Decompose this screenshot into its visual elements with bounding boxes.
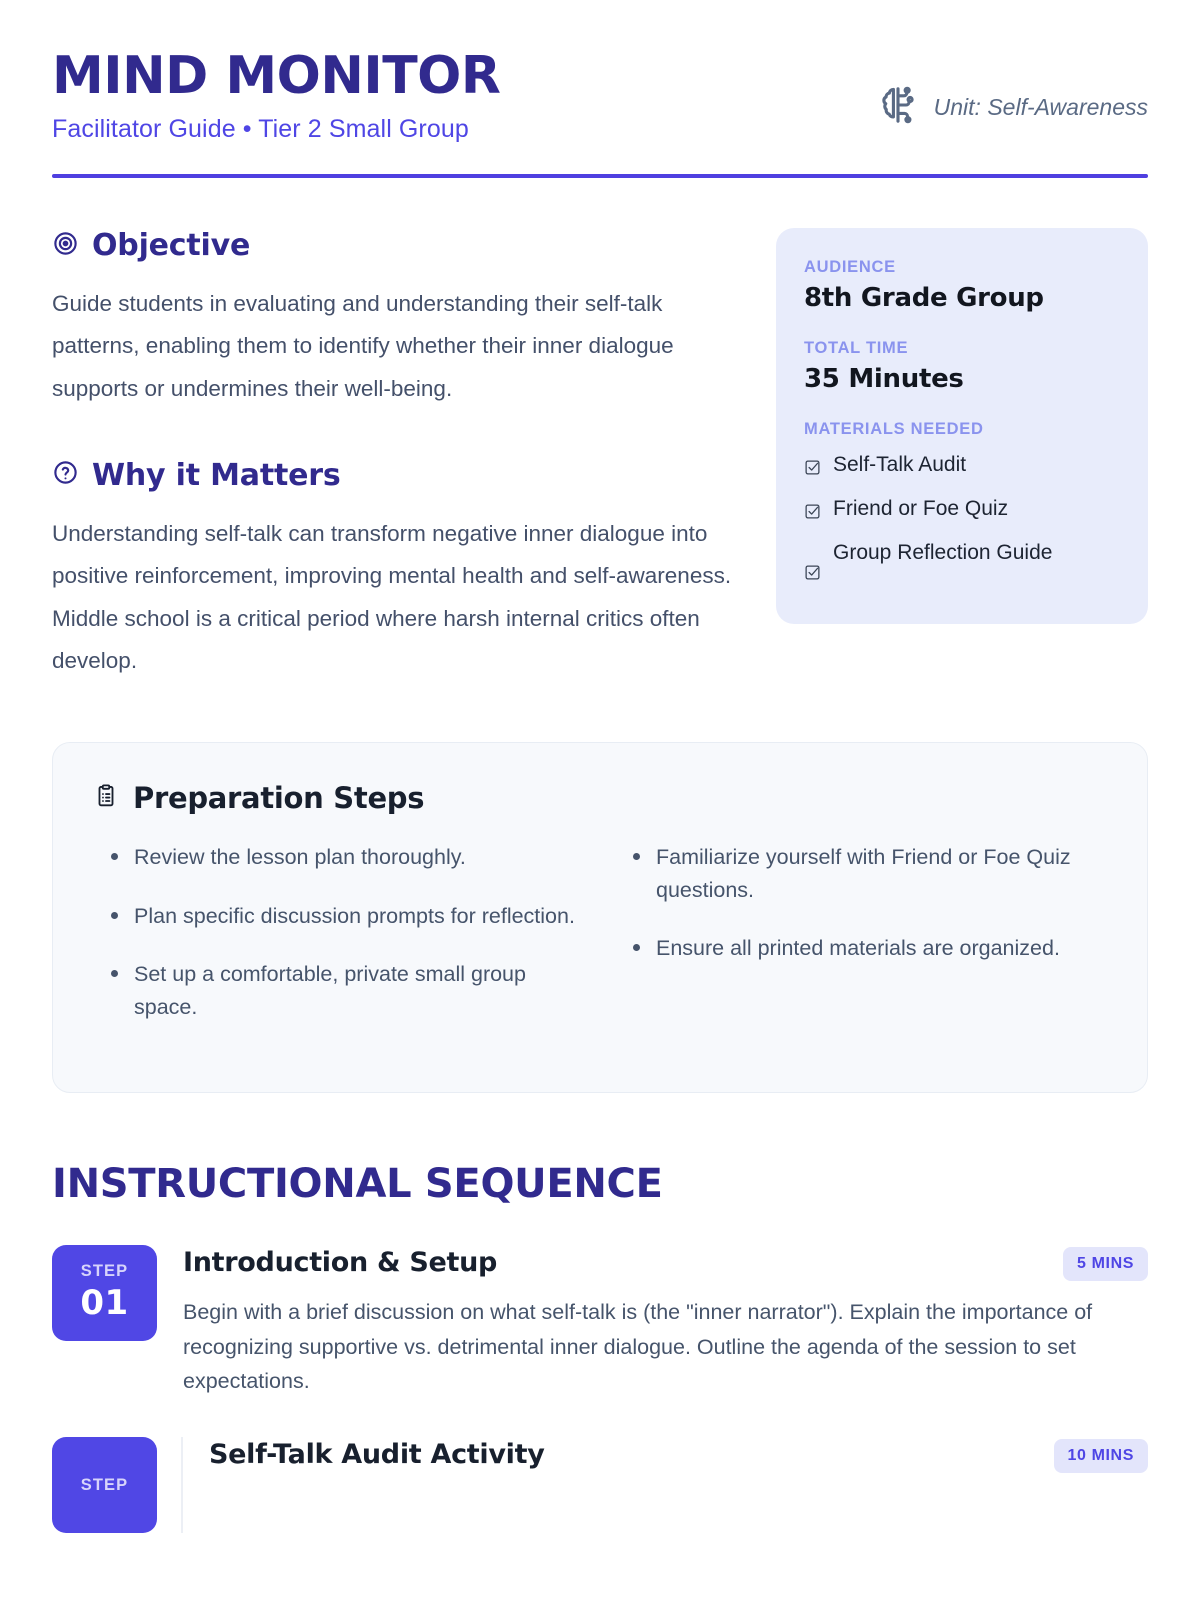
list-item[interactable]: Self-Talk Audit	[804, 449, 1120, 485]
list-item: Set up a comfortable, private small grou…	[93, 958, 585, 1023]
bullet-icon	[111, 912, 118, 919]
materials-list: Self-Talk Audit Friend or Foe Quiz	[804, 449, 1120, 590]
list-item: Familiarize yourself with Friend or Foe …	[615, 841, 1107, 906]
main-columns: Objective Guide students in evaluating a…	[52, 228, 1148, 682]
prep-text: Review the lesson plan thoroughly.	[134, 841, 466, 874]
total-time-value: 35 Minutes	[804, 364, 1120, 394]
materials-block: MATERIALS NEEDED Self-Talk Audit	[804, 420, 1120, 590]
preparation-left-column: Review the lesson plan thoroughly. Plan …	[93, 841, 585, 1050]
preparation-right-column: Familiarize yourself with Friend or Foe …	[615, 841, 1107, 1050]
bullet-icon	[633, 944, 640, 951]
step-title: Self-Talk Audit Activity	[209, 1439, 545, 1470]
list-item: Review the lesson plan thoroughly.	[93, 841, 585, 874]
prep-text: Ensure all printed materials are organiz…	[656, 932, 1060, 965]
step-description: Begin with a brief discussion on what se…	[183, 1295, 1148, 1399]
page-subtitle: Facilitator Guide • Tier 2 Small Group	[52, 115, 500, 144]
preparation-columns: Review the lesson plan thoroughly. Plan …	[93, 841, 1107, 1050]
step-badge: STEP	[52, 1437, 157, 1533]
info-column: AUDIENCE 8th Grade Group TOTAL TIME 35 M…	[776, 228, 1148, 682]
step-title: Introduction & Setup	[183, 1247, 497, 1278]
brand-block: MIND MONITOR Facilitator Guide • Tier 2 …	[52, 50, 500, 144]
preparation-heading: Preparation Steps	[133, 781, 424, 815]
step-badge: STEP 01	[52, 1245, 157, 1341]
prep-text: Set up a comfortable, private small grou…	[134, 958, 585, 1023]
header-divider	[52, 174, 1148, 178]
objective-heading: Objective	[92, 228, 250, 263]
step-word: STEP	[81, 1476, 129, 1495]
why-body: Understanding self-talk can transform ne…	[52, 513, 752, 682]
step-top-row: Introduction & Setup 5 MINS	[183, 1247, 1148, 1281]
why-heading: Why it Matters	[92, 458, 341, 493]
step-top-row: Self-Talk Audit Activity 10 MINS	[209, 1439, 1148, 1473]
status-badge: 10 MINS	[1054, 1439, 1148, 1473]
unit-label: Unit: Self-Awareness	[934, 94, 1148, 121]
question-circle-icon	[52, 459, 79, 491]
bullet-icon	[633, 853, 640, 860]
status-badge: 5 MINS	[1063, 1247, 1148, 1281]
checkbox-checked-icon	[804, 559, 821, 590]
brain-circuit-icon	[876, 83, 920, 132]
audience-block: AUDIENCE 8th Grade Group	[804, 258, 1120, 313]
checkbox-checked-icon	[804, 454, 821, 485]
page-header: MIND MONITOR Facilitator Guide • Tier 2 …	[52, 50, 1148, 144]
material-label: Friend or Foe Quiz	[833, 493, 1008, 524]
material-label: Group Reflection Guide	[833, 537, 1052, 568]
objective-body: Guide students in evaluating and underst…	[52, 283, 752, 410]
target-icon	[52, 230, 79, 262]
total-time-label: TOTAL TIME	[804, 339, 1120, 358]
step-content: Introduction & Setup 5 MINS Begin with a…	[183, 1245, 1148, 1399]
step-word: STEP	[81, 1262, 129, 1281]
sequence-step-01: STEP 01 Introduction & Setup 5 MINS Begi…	[52, 1245, 1148, 1399]
list-item[interactable]: Friend or Foe Quiz	[804, 493, 1120, 529]
total-time-block: TOTAL TIME 35 Minutes	[804, 339, 1120, 394]
list-item: Ensure all printed materials are organiz…	[615, 932, 1107, 965]
lesson-info-card: AUDIENCE 8th Grade Group TOTAL TIME 35 M…	[776, 228, 1148, 624]
bullet-icon	[111, 853, 118, 860]
objective-header: Objective	[52, 228, 752, 263]
step-number: 01	[80, 1283, 128, 1323]
unit-indicator: Unit: Self-Awareness	[876, 83, 1148, 144]
sequence-step-02: STEP Self-Talk Audit Activity 10 MINS	[52, 1437, 1148, 1533]
bullet-icon	[111, 970, 118, 977]
preparation-panel: Preparation Steps Review the lesson plan…	[52, 742, 1148, 1093]
section-spacer	[52, 410, 752, 458]
prep-text: Familiarize yourself with Friend or Foe …	[656, 841, 1107, 906]
content-column: Objective Guide students in evaluating a…	[52, 228, 752, 682]
audience-value: 8th Grade Group	[804, 283, 1120, 313]
material-label: Self-Talk Audit	[833, 449, 966, 480]
clipboard-list-icon	[93, 783, 119, 814]
audience-label: AUDIENCE	[804, 258, 1120, 277]
facilitator-guide-page: MIND MONITOR Facilitator Guide • Tier 2 …	[0, 0, 1200, 1600]
sequence-heading: INSTRUCTIONAL SEQUENCE	[52, 1161, 1148, 1207]
materials-label: MATERIALS NEEDED	[804, 420, 1120, 439]
prep-text: Plan specific discussion prompts for ref…	[134, 900, 575, 933]
checkbox-checked-icon	[804, 498, 821, 529]
preparation-header: Preparation Steps	[93, 781, 1107, 815]
list-item: Plan specific discussion prompts for ref…	[93, 900, 585, 933]
list-item[interactable]: Group Reflection Guide	[804, 537, 1120, 590]
page-title: MIND MONITOR	[52, 50, 500, 103]
step-content: Self-Talk Audit Activity 10 MINS	[181, 1437, 1148, 1533]
why-header: Why it Matters	[52, 458, 752, 493]
